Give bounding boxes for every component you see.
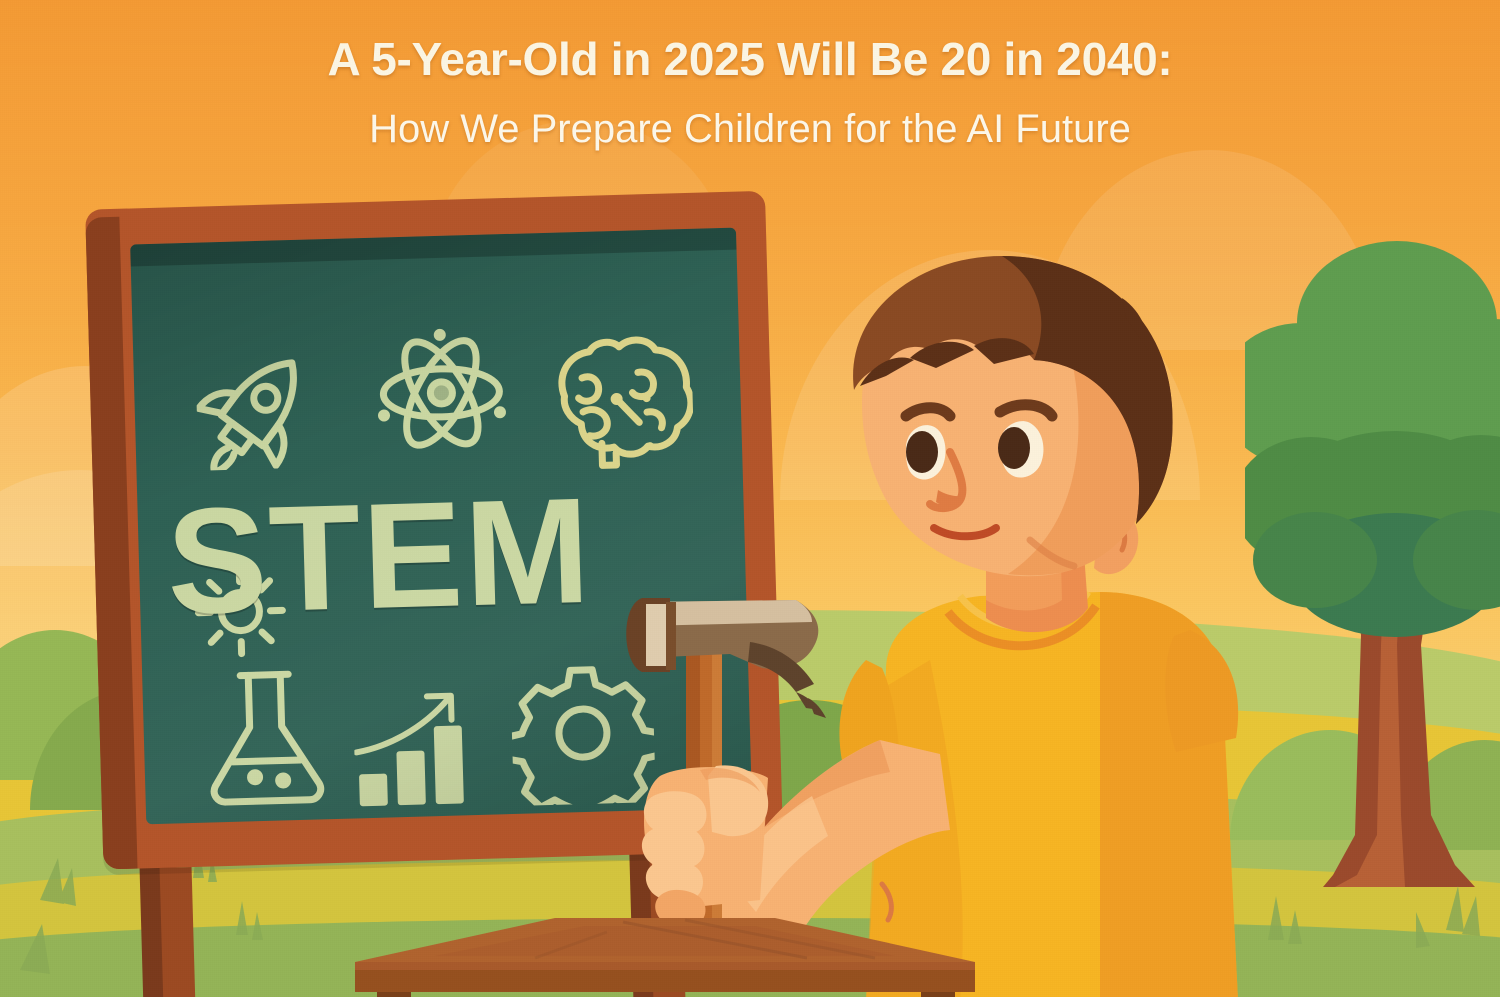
page-subtitle: How We Prepare Children for the AI Futur… xyxy=(40,106,1460,152)
growth-chart-icon xyxy=(353,687,496,811)
page-title: A 5-Year-Old in 2025 Will Be 20 in 2040: xyxy=(40,34,1460,86)
hammer-head xyxy=(626,598,826,718)
illustration-canvas: STEM xyxy=(0,0,1500,997)
chalkboard-frame-side xyxy=(85,217,137,870)
workbench-table xyxy=(355,918,975,997)
tree-canopy xyxy=(1245,241,1500,637)
flask-icon xyxy=(200,665,332,811)
boy-eye-left xyxy=(906,425,946,479)
atom-icon xyxy=(368,320,514,466)
rocket-icon xyxy=(195,337,329,471)
hammer xyxy=(600,580,900,960)
chalkboard-leg-left xyxy=(160,867,198,997)
tree xyxy=(1245,215,1500,955)
boy-hand xyxy=(642,765,768,927)
header: A 5-Year-Old in 2025 Will Be 20 in 2040:… xyxy=(0,34,1500,152)
